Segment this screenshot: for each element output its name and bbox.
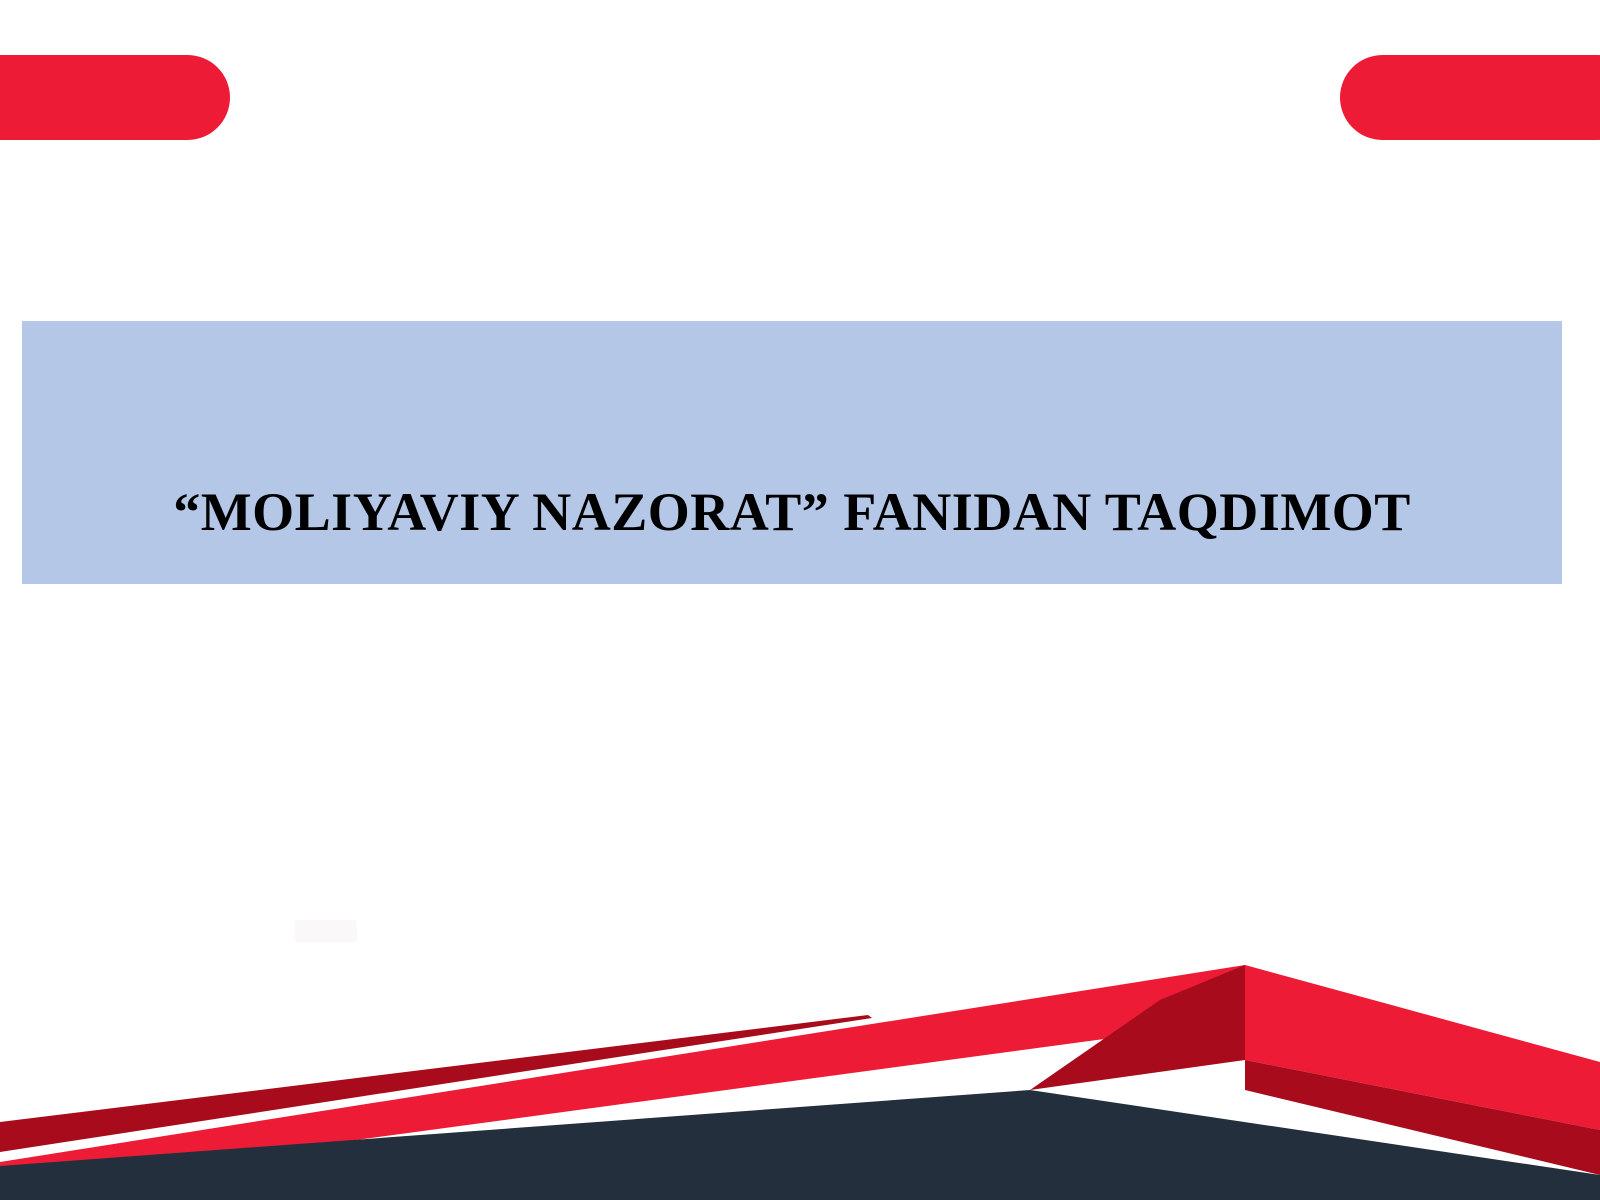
page-title: “MOLIYAVIY NAZORAT” FANIDAN TAQDIMOT — [173, 363, 1411, 542]
top-left-red-pill-decoration — [0, 55, 230, 140]
presentation-slide: “MOLIYAVIY NAZORAT” FANIDAN TAQDIMOT — [0, 0, 1600, 1200]
faint-artifact — [295, 920, 357, 942]
title-band: “MOLIYAVIY NAZORAT” FANIDAN TAQDIMOT — [22, 321, 1562, 584]
bottom-angled-banner-decoration — [0, 940, 1600, 1200]
bottom-banner-svg — [0, 940, 1600, 1200]
top-right-red-pill-decoration — [1340, 55, 1600, 140]
